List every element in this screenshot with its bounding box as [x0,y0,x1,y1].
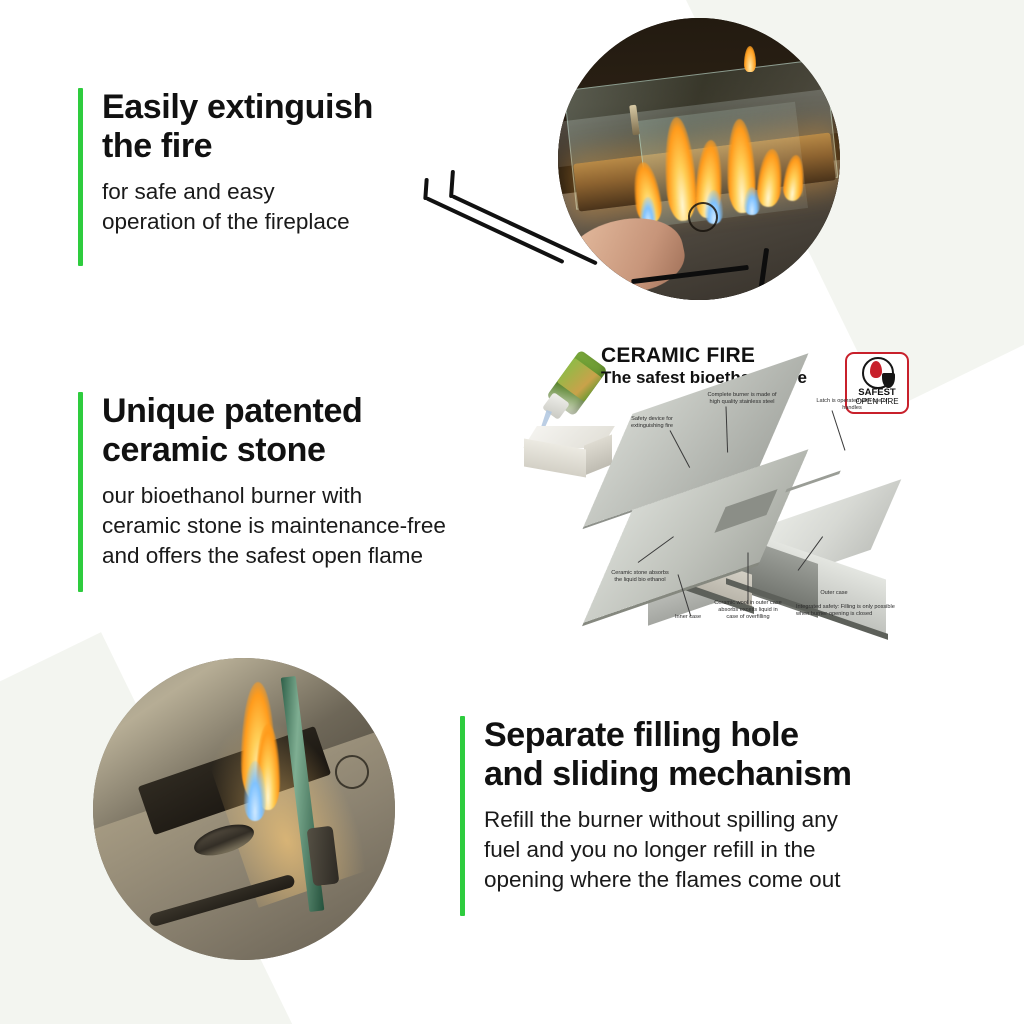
heading-line-1: Unique patented [102,392,362,430]
infographic-page: Easily extinguishthe fire for safe and e… [0,0,1024,1024]
body-line-1: Refill the burner without spilling any [484,807,838,832]
diagram-label-ceramic-wool: Ceramic wool in outer case absorbs exces… [712,600,784,621]
accent-bar-filling-hole [460,716,465,916]
diagram-label-safety-device: Safety device for extinguishing fire [616,416,688,430]
heading-line-2: and sliding mechanism [484,755,852,793]
heading-line-2: the fire [102,127,212,165]
section-extinguish-body: for safe and easyoperation of the firepl… [102,177,478,237]
section-filling-hole-heading: Separate filling holeand sliding mechani… [484,716,970,795]
section-extinguish-heading: Easily extinguishthe fire [102,88,478,167]
section-ceramic-stone-heading: Unique patentedceramic stone [102,392,548,471]
section-ceramic-stone-body: our bioethanol burner withceramic stone … [102,481,548,571]
section-filling-hole: Separate filling holeand sliding mechani… [460,716,970,895]
body-line-2: fuel and you no longer refill in the [484,837,815,862]
accent-bar-ceramic-stone [78,392,83,592]
body-line-2: ceramic stone is maintenance-free [102,513,446,538]
diagram-label-inner-case: Inner case [656,614,720,621]
diagram-label-outer-case: Outer case [806,590,862,597]
accent-bar-extinguish [78,88,83,266]
body-line-2: operation of the fireplace [102,209,350,234]
body-line-3: and offers the safest open flame [102,543,423,568]
heading-line-2: ceramic stone [102,431,325,469]
burner-exploded-diagram: Safety device for extinguishing fire Com… [608,392,944,654]
body-line-1: our bioethanol burner with [102,483,362,508]
body-line-3: opening where the flames come out [484,867,840,892]
section-extinguish: Easily extinguishthe fire for safe and e… [78,88,478,237]
diagram-label-integrated-safety: Integrated safety: Filling is only possi… [796,604,900,618]
section-filling-hole-body: Refill the burner without spilling anyfu… [484,805,970,895]
heading-line-1: Separate filling hole [484,716,799,754]
section-ceramic-stone: Unique patentedceramic stone our bioetha… [78,392,548,571]
photo-fireplace-flames [558,18,840,300]
heading-line-1: Easily extinguish [102,88,373,126]
body-line-1: for safe and easy [102,179,275,204]
diagram-label-ceramic-stone: Ceramic stone absorbs the liquid bio eth… [608,570,672,584]
photo-burner-closeup [93,658,395,960]
diagram-label-complete-burner: Complete burner is made of high quality … [704,392,780,406]
diagram-label-latch: Latch is operated with use of handles [816,398,888,412]
flame-shield-icon [860,357,894,387]
